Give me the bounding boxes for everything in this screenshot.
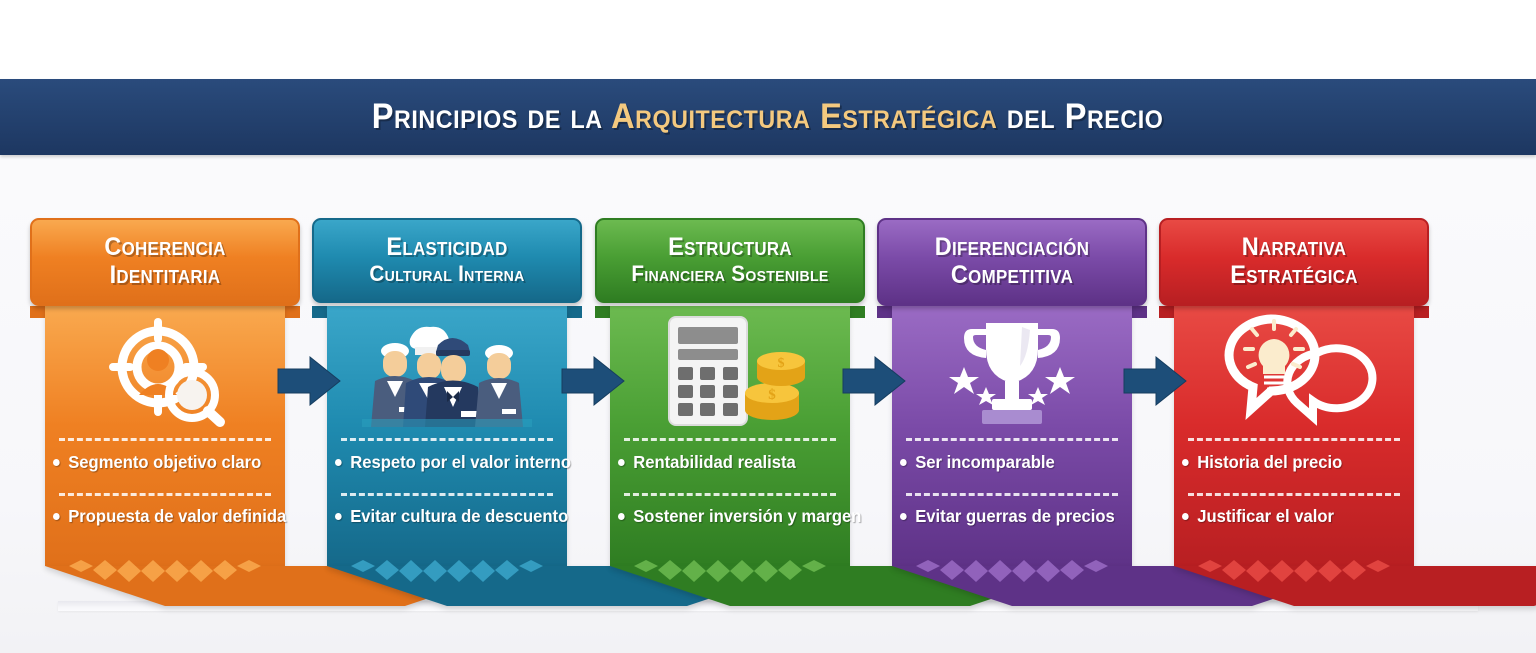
card-2-divider-2: [341, 493, 553, 496]
card-4-divider-1: [906, 438, 1118, 441]
bullet-dot-icon: [1182, 513, 1189, 520]
card-4-title-line-2: Competitiva: [895, 262, 1130, 290]
bullet-dot-icon: [1182, 459, 1189, 466]
principle-card-1[interactable]: Coherencia Identitaria: [30, 218, 300, 306]
page-title: Principios de la Arquitectura Estratégic…: [372, 97, 1164, 137]
card-5-fold-left: [1159, 306, 1175, 318]
speech-bubbles-lightbulb-icon: [1174, 312, 1414, 430]
card-4-fold-right: [1131, 306, 1147, 318]
card-5-divider-1: [1188, 438, 1400, 441]
card-2-fold-right: [566, 306, 582, 318]
title-banner: Principios de la Arquitectura Estratégic…: [0, 79, 1536, 155]
flow-arrow-right-1: [278, 355, 340, 407]
flow-arrow-right-3: [843, 355, 905, 407]
card-4-fold-left: [877, 306, 893, 318]
flow-arrow-right-2: [562, 355, 624, 407]
card-1-header: Coherencia Identitaria: [30, 218, 300, 306]
bullet-dot-icon: [618, 459, 625, 466]
card-3-title-line-1: Estructura: [613, 234, 848, 262]
card-4-divider-2: [906, 493, 1118, 496]
card-2-title-line-2: Cultural Interna: [330, 262, 565, 286]
bullet-dot-icon: [53, 513, 60, 520]
bullet-dot-icon: [53, 459, 60, 466]
title-part-highlight: Arquitectura Estratégica: [611, 97, 997, 136]
card-5-title-line-2: Estratégica: [1177, 262, 1412, 290]
title-part-3: del Precio: [998, 97, 1164, 136]
card-1-bullet-2: Propuesta de valor definida: [53, 506, 270, 527]
card-5-point: [1174, 566, 1536, 606]
card-5-body: Historia del precio Justificar el valor: [1174, 306, 1414, 566]
card-3-body: $ $ Rentabilidad realista Sostener inver…: [610, 306, 850, 566]
svg-text:$: $: [768, 387, 776, 403]
card-2-header: Elasticidad Cultural Interna: [312, 218, 582, 303]
card-3-bullet-1: Rentabilidad realista: [618, 452, 835, 473]
bullet-dot-icon: [335, 459, 342, 466]
target-person-search-icon: [45, 312, 285, 430]
card-2-body: Respeto por el valor interno Evitar cult…: [327, 306, 567, 566]
card-2-bullet-2: Evitar cultura de descuento: [335, 506, 552, 527]
card-1-divider-1: [59, 438, 271, 441]
card-4-bullet-2: Evitar guerras de precios: [900, 506, 1117, 527]
card-5-header: Narrativa Estratégica: [1159, 218, 1429, 306]
card-1-title-line-1: Coherencia: [48, 234, 283, 262]
card-3-header: Estructura Financiera Sostenible: [595, 218, 865, 303]
card-2-fold-left: [312, 306, 328, 318]
flow-arrow-right-4: [1124, 355, 1186, 407]
bullet-dot-icon: [335, 513, 342, 520]
card-5-fold-right: [1413, 306, 1429, 318]
hospitality-staff-team-icon: [327, 312, 567, 430]
card-1-bullet-1: Segmento objetivo claro: [53, 452, 270, 473]
card-4-title-line-1: Diferenciación: [895, 234, 1130, 262]
infographic-canvas: Principios de la Arquitectura Estratégic…: [0, 0, 1536, 653]
card-3-fold-right: [849, 306, 865, 318]
card-5-divider-2: [1188, 493, 1400, 496]
card-4-bullet-1: Ser incomparable: [900, 452, 1117, 473]
principle-card-4[interactable]: Diferenciación Competitiva: [877, 218, 1147, 306]
principle-card-5[interactable]: Narrativa Estratégica: [1159, 218, 1429, 306]
card-1-title-line-2: Identitaria: [48, 262, 283, 290]
card-1-divider-2: [59, 493, 271, 496]
card-2-bullet-1: Respeto por el valor interno: [335, 452, 552, 473]
calculator-coins-icon: $ $: [610, 312, 850, 430]
trophy-stars-icon: [892, 312, 1132, 430]
bullet-dot-icon: [900, 513, 907, 520]
card-3-divider-2: [624, 493, 836, 496]
card-2-divider-1: [341, 438, 553, 441]
card-3-fold-left: [595, 306, 611, 318]
card-3-divider-1: [624, 438, 836, 441]
card-1-body: Segmento objetivo claro Propuesta de val…: [45, 306, 285, 566]
card-3-bullet-2: Sostener inversión y margen: [618, 506, 835, 527]
card-1-fold-left: [30, 306, 46, 318]
card-5-bullet-1: Historia del precio: [1182, 452, 1399, 473]
card-3-title-line-2: Financiera Sostenible: [613, 262, 848, 286]
card-4-header: Diferenciación Competitiva: [877, 218, 1147, 306]
bullet-dot-icon: [618, 513, 625, 520]
card-1-fold-right: [284, 306, 300, 318]
card-4-body: Ser incomparable Evitar guerras de preci…: [892, 306, 1132, 566]
card-5-title-line-1: Narrativa: [1177, 234, 1412, 262]
svg-text:$: $: [778, 356, 785, 371]
card-5-bullet-2: Justificar el valor: [1182, 506, 1399, 527]
title-part-1: Principios de la: [372, 97, 611, 136]
principle-card-3[interactable]: Estructura Financiera Sostenible: [595, 218, 865, 303]
bullet-dot-icon: [900, 459, 907, 466]
card-2-title-line-1: Elasticidad: [330, 234, 565, 262]
principle-card-2[interactable]: Elasticidad Cultural Interna: [312, 218, 582, 303]
